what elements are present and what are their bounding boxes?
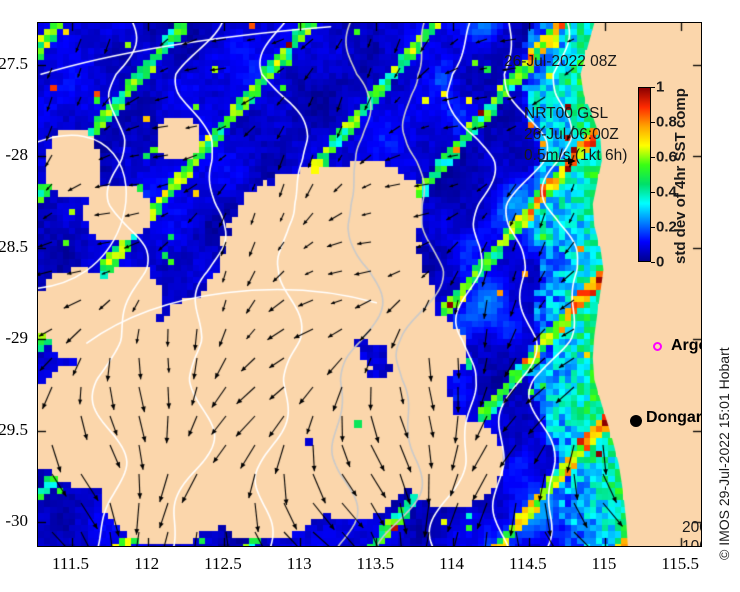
y-tick-label: -28.5 xyxy=(0,237,28,257)
y-tick-label: -29 xyxy=(5,328,28,348)
x-tick-label: 112 xyxy=(134,554,159,574)
bathy-label-1000m: 1000m xyxy=(682,537,702,547)
product-name-label: NRT00 GSL xyxy=(524,103,627,124)
colorbar-tick xyxy=(651,192,655,193)
x-tick-label: 113.5 xyxy=(357,554,395,574)
colorbar-tick-label: 0 xyxy=(656,254,664,271)
bathy-label-200m: 200m xyxy=(682,518,702,537)
map-canvas-clip xyxy=(38,23,701,546)
y-tick-label: -29.5 xyxy=(0,420,28,440)
dongara-station-marker[interactable] xyxy=(630,415,642,427)
bathymetry-legend: 200m 1000m xyxy=(682,518,702,547)
credit-label: © IMOS 29-Jul-2022 15:01 Hobart xyxy=(716,330,734,560)
x-tick-label: 114.5 xyxy=(509,554,547,574)
x-tick-label: 115 xyxy=(592,554,617,574)
colorbar-tick-label: 1 xyxy=(656,79,664,96)
colorbar-tick xyxy=(651,157,655,158)
colorbar-tick xyxy=(651,122,655,123)
x-tick-label: 115.5 xyxy=(661,554,699,574)
date-stamp-label: 26-Jul-2022 08Z xyxy=(504,53,617,71)
colorbar-tick xyxy=(651,87,655,88)
y-tick-label: -27.5 xyxy=(0,54,28,74)
product-time-label: 26-Jul 06:00Z xyxy=(524,124,627,145)
map-plot-area: 26-Jul-2022 08Z NRT00 GSL 26-Jul 06:00Z … xyxy=(37,22,702,547)
axis-tick-layer xyxy=(38,23,701,546)
figure-root: 26-Jul-2022 08Z NRT00 GSL 26-Jul 06:00Z … xyxy=(0,0,740,592)
colorbar-tick xyxy=(651,262,655,263)
colorbar xyxy=(638,87,651,262)
x-tick-label: 112.5 xyxy=(204,554,242,574)
dongara-marker-label: Dongara xyxy=(646,409,702,427)
argo-float-marker[interactable] xyxy=(653,342,662,351)
reference-arrow-icon xyxy=(538,154,578,168)
x-tick-label: 113 xyxy=(287,554,312,574)
y-tick-label: -28 xyxy=(5,145,28,165)
y-tick-label: -30 xyxy=(5,511,28,531)
colorbar-title: std dev of 4hr SST comp xyxy=(672,88,690,264)
x-tick-label: 111.5 xyxy=(52,554,89,574)
argo-marker-label: Argo xyxy=(671,337,702,355)
colorbar-tick xyxy=(651,227,655,228)
colorbar-gradient xyxy=(639,88,650,261)
x-tick-label: 114 xyxy=(439,554,464,574)
